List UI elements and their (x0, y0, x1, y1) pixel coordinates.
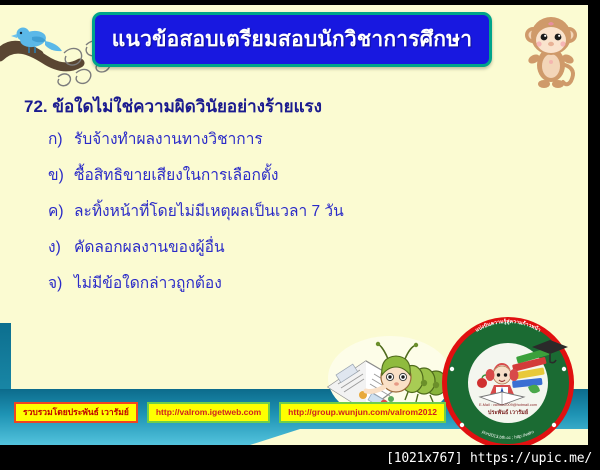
choice-key: ง) (48, 234, 74, 259)
page-title: แนวข้อสอบเตรียมสอบนักวิชาการศึกษา (112, 23, 472, 56)
footer-link-wunjun[interactable]: http://group.wunjun.com/valrom2012 (279, 402, 446, 423)
slide-canvas: แนวข้อสอบเตรียมสอบนักวิชาการศึกษา (0, 5, 588, 445)
list-item[interactable]: ก) รับจ้างทำผลงานทางวิชาการ (48, 126, 468, 151)
question-text: 72. ข้อใดไม่ใช่ความผิดวินัยอย่างร้ายแรง (24, 93, 322, 120)
footer-link-bar: รวบรวมโดยประพันธ์ เวารัมย์ http://valrom… (14, 402, 446, 423)
footer-credit-chip[interactable]: รวบรวมโดยประพันธ์ เวารัมย์ (14, 402, 138, 423)
list-item[interactable]: ค) ละทิ้งหน้าที่โดยไม่มีเหตุผลเป็นเวลา 7… (48, 198, 468, 223)
knowledge-sharing-seal-icon: แบ่งปันความรู้สู่ความก้าวหน้า pun2013.bt… (432, 313, 584, 445)
bird-icon (11, 28, 62, 54)
monkey-mascot-icon (520, 7, 582, 91)
choice-key: ข) (48, 162, 74, 187)
choice-key: ค) (48, 198, 74, 223)
choice-key: ก) (48, 126, 74, 151)
choice-list: ก) รับจ้างทำผลงานทางวิชาการ ข) ซื้อสิทธิ… (48, 126, 468, 306)
choice-label: ไม่มีข้อใดกล่าวถูกต้อง (74, 270, 222, 295)
choice-label: ละทิ้งหน้าที่โดยไม่มีเหตุผลเป็นเวลา 7 วั… (74, 198, 344, 223)
choice-key: จ) (48, 270, 74, 295)
watermark-caption: [1021x767] https://upic.me/ (386, 451, 592, 466)
choice-label: ซื้อสิทธิขายเสียงในการเลือกตั้ง (74, 162, 278, 187)
header-banner: แนวข้อสอบเตรียมสอบนักวิชาการศึกษา (92, 12, 492, 67)
choice-label: รับจ้างทำผลงานทางวิชาการ (74, 126, 263, 151)
list-item[interactable]: ง) คัดลอกผลงานของผู้อื่น (48, 234, 468, 259)
footer-link-igetweb[interactable]: http://valrom.igetweb.com (147, 402, 270, 423)
seal-inner-email: E-Mail : valrom2009@hotmail.com (479, 403, 537, 407)
list-item[interactable]: ข) ซื้อสิทธิขายเสียงในการเลือกตั้ง (48, 162, 468, 187)
screenshot-root: แนวข้อสอบเตรียมสอบนักวิชาการศึกษา (0, 0, 600, 470)
list-item[interactable]: จ) ไม่มีข้อใดกล่าวถูกต้อง (48, 270, 468, 295)
choice-label: คัดลอกผลงานของผู้อื่น (74, 234, 225, 259)
seal-inner-name: ประพันธ์ เวารัมย์ (488, 408, 528, 416)
